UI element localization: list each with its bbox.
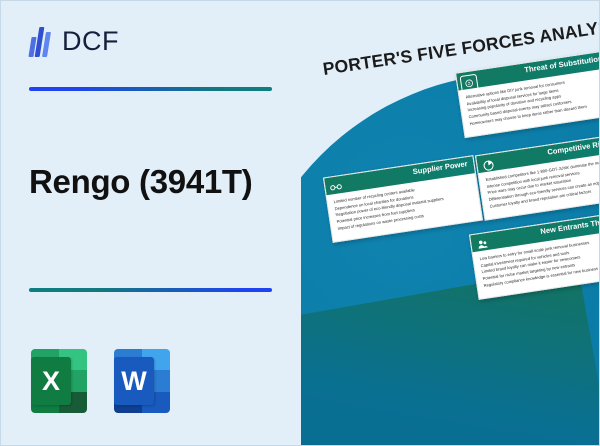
card-threat-of-substitution[interactable]: Threat of Substitution Alternative optio… xyxy=(455,50,600,138)
card-title: New Entrants Threat xyxy=(540,216,600,236)
force-cards: Threat of Substitution Alternative optio… xyxy=(301,1,600,446)
card-competitive-rivalry[interactable]: Competitive Rivalry Established competit… xyxy=(475,133,600,220)
download-icons: X W xyxy=(31,349,170,413)
porters-five-forces-infographic: PORTER'S FIVE FORCES ANALYSIS Threat of … xyxy=(301,1,600,446)
divider-top xyxy=(29,87,272,91)
excel-icon-letter: X xyxy=(31,357,71,405)
bar-chart-logo-icon xyxy=(29,25,55,57)
card-title: Supplier Power xyxy=(412,159,468,176)
card-supplier-power[interactable]: Supplier Power Limited number of recycli… xyxy=(323,155,483,243)
excel-file-icon[interactable]: X xyxy=(31,349,87,413)
word-icon-letter: W xyxy=(114,357,154,405)
card-title: Competitive Rivalry xyxy=(547,137,600,156)
pie-chart-icon xyxy=(479,157,496,174)
page-canvas: DCF Rengo (3941T) X W PORTER'S FIV xyxy=(0,0,600,446)
brand-logo[interactable]: DCF xyxy=(29,25,119,57)
page-title: Rengo (3941T) xyxy=(29,163,252,201)
link-chain-icon xyxy=(328,179,345,196)
people-group-icon xyxy=(474,236,491,253)
divider-bottom xyxy=(29,288,272,292)
card-new-entrants-threat[interactable]: New Entrants Threat Low barriers to entr… xyxy=(469,212,600,300)
recycle-icon xyxy=(460,74,479,93)
brand-logo-text: DCF xyxy=(62,28,119,55)
word-file-icon[interactable]: W xyxy=(114,349,170,413)
